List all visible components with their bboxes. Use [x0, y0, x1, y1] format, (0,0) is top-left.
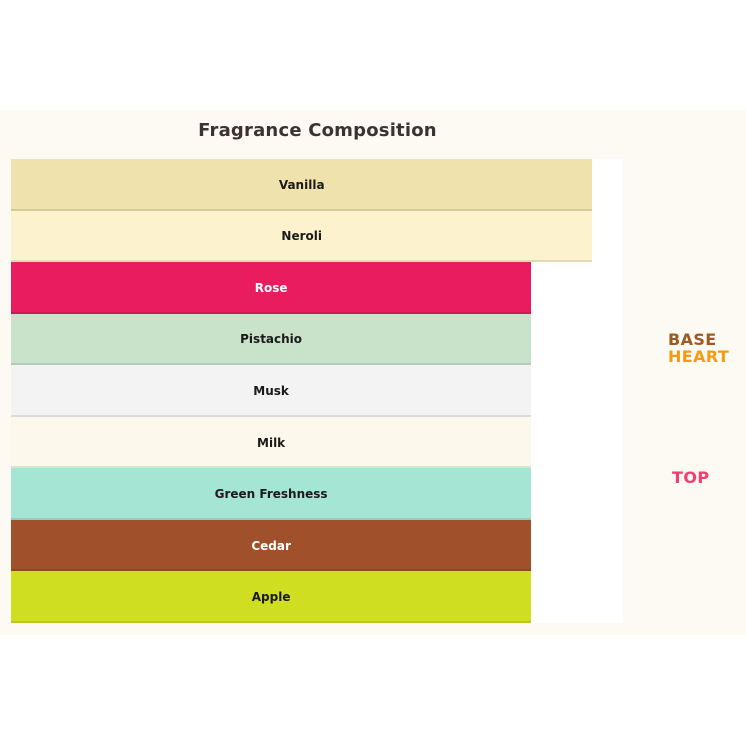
- bar-vanilla[interactable]: [11, 159, 592, 211]
- bar-row: Green Freshness: [11, 468, 623, 520]
- bar-rose[interactable]: [11, 262, 531, 314]
- chart-figure: Fragrance Composition VanillaNeroliRoseP…: [0, 110, 746, 635]
- bar-row: Vanilla: [11, 159, 623, 211]
- bar-green-freshness[interactable]: [11, 468, 531, 520]
- bar-apple[interactable]: [11, 571, 531, 623]
- bar-row: Pistachio: [11, 314, 623, 366]
- bar-neroli[interactable]: [11, 211, 592, 263]
- stage-label-top: TOP: [672, 468, 709, 487]
- bar-row: Neroli: [11, 211, 623, 263]
- page-title: Fragrance Composition: [0, 120, 635, 141]
- bar-row: Musk: [11, 365, 623, 417]
- plot-area: VanillaNeroliRosePistachioMuskMilkGreen …: [11, 159, 623, 623]
- bar-row: Milk: [11, 417, 623, 469]
- bar-row: Cedar: [11, 520, 623, 572]
- bar-row: Apple: [11, 571, 623, 623]
- bar-pistachio[interactable]: [11, 314, 531, 366]
- bar-musk[interactable]: [11, 365, 531, 417]
- bar-row: Rose: [11, 262, 623, 314]
- stage-label-heart: HEART: [668, 347, 729, 366]
- bar-milk[interactable]: [11, 417, 531, 469]
- bar-cedar[interactable]: [11, 520, 531, 572]
